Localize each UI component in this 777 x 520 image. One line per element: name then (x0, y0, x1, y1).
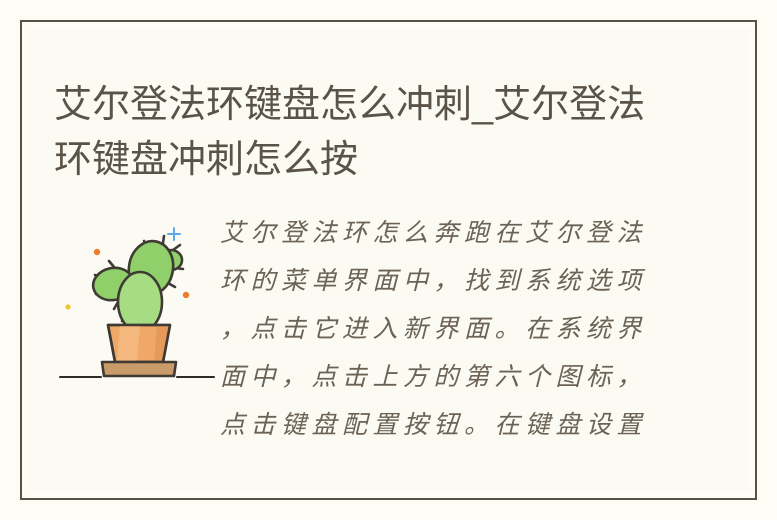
dot-orange-right-icon (183, 292, 189, 298)
cactus-pad-center (118, 272, 162, 332)
dot-yellow-left-icon (65, 304, 70, 309)
body-line: 点击键盘配置按钮。在键盘设置 (220, 402, 670, 450)
page-title: 艾尔登法环键盘怎么冲刺_艾尔登法环键盘冲刺怎么按 (54, 78, 654, 188)
body-line: ，点击它进入新界面。在系统界 (220, 306, 670, 354)
potted-cactus-illustration (56, 195, 221, 385)
pot-highlight (117, 325, 140, 362)
article-page: 艾尔登法环键盘怎么冲刺_艾尔登法环键盘冲刺怎么按 (0, 0, 777, 520)
article-body: 艾尔登法环怎么奔跑在艾尔登法 环的菜单界面中，找到系统选项 ，点击它进入新界面。… (220, 210, 670, 450)
cactus-plant (90, 236, 183, 332)
dot-orange-upper-icon (94, 249, 100, 255)
page-content: 艾尔登法环键盘怎么冲刺_艾尔登法环键盘冲刺怎么按 (28, 28, 749, 492)
plus-mark-blue-icon (168, 228, 180, 240)
plant-pot (102, 325, 176, 376)
pot-base (102, 362, 176, 376)
body-line: 环的菜单界面中，找到系统选项 (220, 258, 670, 306)
body-line: 面中，点击上方的第六个图标， (220, 354, 670, 402)
body-line: 艾尔登法环怎么奔跑在艾尔登法 (220, 210, 670, 258)
